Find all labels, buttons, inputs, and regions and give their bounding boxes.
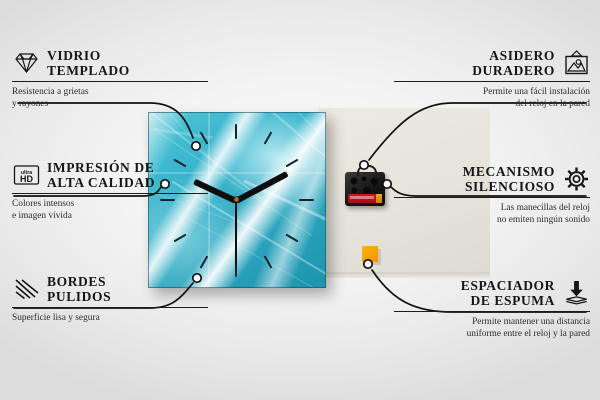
feature-impresion-alta-calidad: ultra HD IMPRESIÓN DE ALTA CALIDAD Color… (12, 160, 208, 223)
arrow-down-onto-layers-icon (562, 280, 590, 306)
feature-title-line2: SILENCIOSO (465, 179, 555, 194)
feature-title-line1: VIDRIO (47, 48, 130, 63)
divider (12, 193, 208, 194)
feature-title-line2: TEMPLADO (47, 63, 130, 78)
feature-espaciador-de-espuma: ESPACIADOR DE ESPUMA Permite mantener un… (394, 278, 590, 341)
feature-title-line2: DURADERO (472, 63, 555, 78)
feature-title-line1: BORDES (47, 274, 111, 289)
connector-node (192, 142, 200, 150)
feature-mecanismo-silencioso: MECANISMO SILENCIOSO (394, 164, 590, 227)
gear-icon (562, 166, 590, 192)
feature-subtitle: Permite mantener una distancia uniforme … (394, 316, 590, 340)
ultra-hd-badge-icon: ultra HD (12, 162, 40, 188)
feature-title-line1: IMPRESIÓN DE (47, 160, 155, 175)
svg-text:HD: HD (20, 174, 33, 184)
connector-node (364, 260, 372, 268)
feature-title-line2: ALTA CALIDAD (47, 175, 155, 190)
feature-title-line2: PULIDOS (47, 289, 111, 304)
feature-title-line1: MECANISMO (463, 164, 555, 179)
divider (12, 81, 208, 82)
feature-vidrio-templado: VIDRIO TEMPLADO Resistencia a grietas y … (12, 48, 208, 111)
connector-node (383, 180, 391, 188)
feature-subtitle: Superficie lisa y segura (12, 312, 208, 324)
connector-node (360, 161, 368, 169)
divider (394, 197, 590, 198)
feature-subtitle: Las manecillas del reloj no emiten ningú… (394, 202, 590, 226)
feature-subtitle: Colores intensos e imagen vívida (12, 198, 208, 222)
feature-asidero-duradero: ASIDERO DURADERO Permite una fácil insta… (394, 48, 590, 111)
feature-bordes-pulidos: BORDES PULIDOS Superficie lisa y segura (12, 274, 208, 324)
feature-title-line1: ASIDERO (489, 48, 555, 63)
hanging-picture-frame-icon (562, 50, 590, 76)
diagonal-stripes-icon (12, 276, 40, 302)
divider (12, 307, 208, 308)
feature-title-line2: DE ESPUMA (470, 293, 555, 308)
divider (394, 311, 590, 312)
diamond-icon (12, 50, 40, 76)
feature-subtitle: Resistencia a grietas y rayones (12, 86, 208, 110)
feature-title-line1: ESPACIADOR (461, 278, 555, 293)
feature-subtitle: Permite una fácil instalación del reloj … (394, 86, 590, 110)
divider (394, 81, 590, 82)
infographic-canvas: VIDRIO TEMPLADO Resistencia a grietas y … (0, 0, 600, 400)
